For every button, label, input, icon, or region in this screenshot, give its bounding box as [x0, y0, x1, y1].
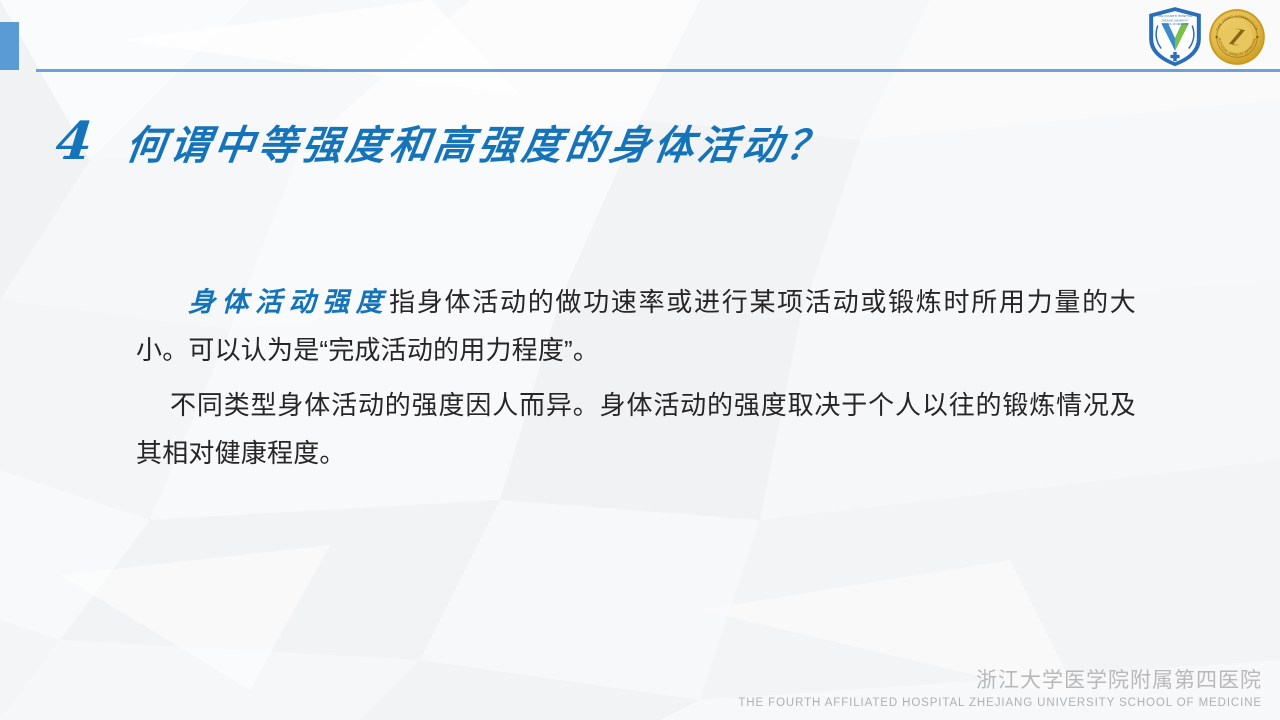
joint-commission-gold-seal-logo: THE JOINT COMMISSION NATIONAL QUALITY AP… [1208, 8, 1266, 66]
header-divider-rule [36, 69, 1280, 72]
blue-tab-accent [0, 22, 19, 70]
footer: 浙江大学医学院附属第四医院 THE FOURTH AFFILIATED HOSP… [738, 668, 1262, 713]
paragraph-1: 身体活动强度指身体活动的做功速率或进行某项活动或锻炼时所用力量的大小。可以认为是… [136, 278, 1136, 374]
footer-institution-en: THE FOURTH AFFILIATED HOSPITAL ZHEJIANG … [738, 695, 1262, 712]
slide-body: 身体活动强度指身体活动的做功速率或进行某项活动或锻炼时所用力量的大小。可以认为是… [136, 278, 1136, 477]
logo-group: THE FOURTH HOSPITAL ZHEJIANG UNIVERSITY … [1146, 6, 1266, 68]
svg-text:ZHEJIANG UNIVERSITY: ZHEJIANG UNIVERSITY [1161, 20, 1188, 23]
slide-title: 4 何谓中等强度和高强度的身体活动？ [56, 116, 830, 168]
presentation-slide: THE FOURTH HOSPITAL ZHEJIANG UNIVERSITY … [0, 0, 1280, 720]
svg-text:THE FOURTH HOSPITAL: THE FOURTH HOSPITAL [1157, 14, 1193, 18]
slide-number: 4 [53, 116, 95, 168]
paragraph-1-emphasis: 身体活动强度 [188, 287, 389, 318]
page-title: 何谓中等强度和高强度的身体活动？ [123, 124, 833, 168]
svg-text:SCHOOL OF MEDICINE: SCHOOL OF MEDICINE [1162, 23, 1189, 26]
paragraph-2: 不同类型身体活动的强度因人而异。身体活动的强度取决于个人以往的锻炼情况及其相对健… [136, 382, 1136, 477]
zhejiang-university-medicine-shield-logo: THE FOURTH HOSPITAL ZHEJIANG UNIVERSITY … [1146, 6, 1204, 68]
footer-institution-cn: 浙江大学医学院附属第四医院 [738, 668, 1262, 694]
